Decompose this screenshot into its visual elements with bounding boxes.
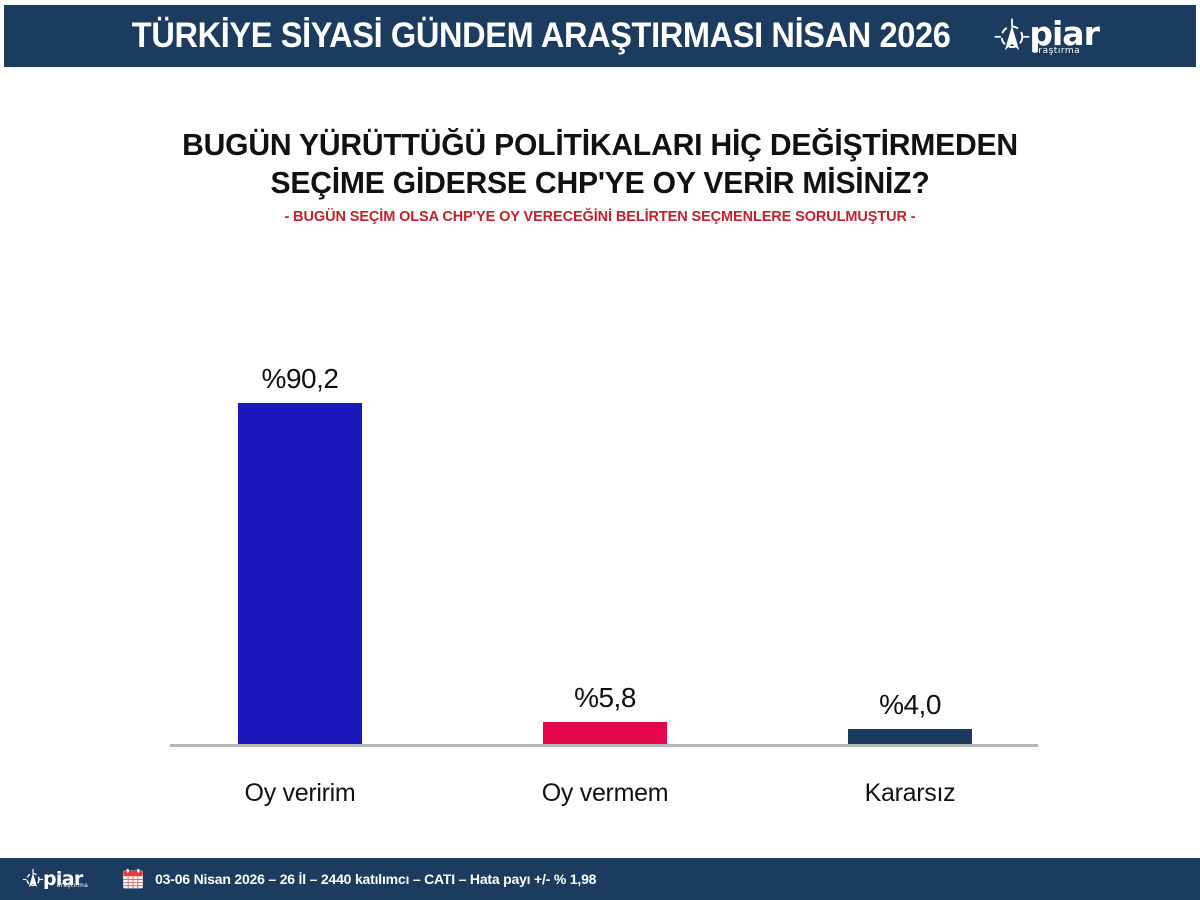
question-line-2: SEÇİME GİDERSE CHP'YE OY VERİR MİSİNİZ? (18, 164, 1182, 202)
bar-column-kararsiz: %4,0 (848, 689, 972, 744)
category-label-kararsiz: Kararsız (790, 779, 1030, 808)
brand-tagline: araştırma (1032, 47, 1080, 56)
bar-rect (238, 403, 362, 744)
x-axis-line (170, 744, 1038, 747)
bar-chart: %90,2 Oy veririm %5,8 Oy vermem %4,0 Kar… (0, 260, 1200, 840)
footer-bar: piar araştırma 03-06 Nisan 2026 – 26 İl … (0, 858, 1200, 900)
bar-column-oy-veririm: %90,2 (238, 363, 362, 744)
compass-arrow-icon (22, 868, 44, 890)
bar-value-label: %90,2 (262, 363, 339, 395)
question-note: - BUGÜN SEÇİM OLSA CHP'YE OY VERECEĞİNİ … (0, 209, 1200, 225)
bar-rect (543, 722, 667, 744)
category-label-oy-vermem: Oy vermem (485, 779, 725, 808)
bar-value-label: %5,8 (574, 682, 636, 714)
compass-arrow-icon (993, 17, 1031, 55)
calendar-icon (122, 868, 144, 890)
question-block: BUGÜN YÜRÜTTÜĞÜ POLİTİKALARI HİÇ DEĞİŞTİ… (0, 126, 1200, 225)
question-line-1: BUGÜN YÜRÜTTÜĞÜ POLİTİKALARI HİÇ DEĞİŞTİ… (18, 126, 1182, 164)
brand-wordmark: piar araştırma (1029, 17, 1098, 56)
brand-logo: piar araştırma (993, 17, 1098, 56)
footer-info-text: 03-06 Nisan 2026 – 26 İl – 2440 katılımc… (155, 871, 596, 887)
bar-rect (848, 729, 972, 744)
footer-brand-tagline: araştırma (57, 882, 89, 889)
bar-column-oy-vermem: %5,8 (543, 682, 667, 744)
footer-brand-logo: piar araştırma (22, 868, 114, 890)
page-title: TÜRKİYE SİYASİ GÜNDEM ARAŞTIRMASI NİSAN … (132, 16, 951, 56)
bar-value-label: %4,0 (879, 689, 941, 721)
header-bar: TÜRKİYE SİYASİ GÜNDEM ARAŞTIRMASI NİSAN … (4, 5, 1196, 67)
category-label-oy-veririm: Oy veririm (180, 779, 420, 808)
